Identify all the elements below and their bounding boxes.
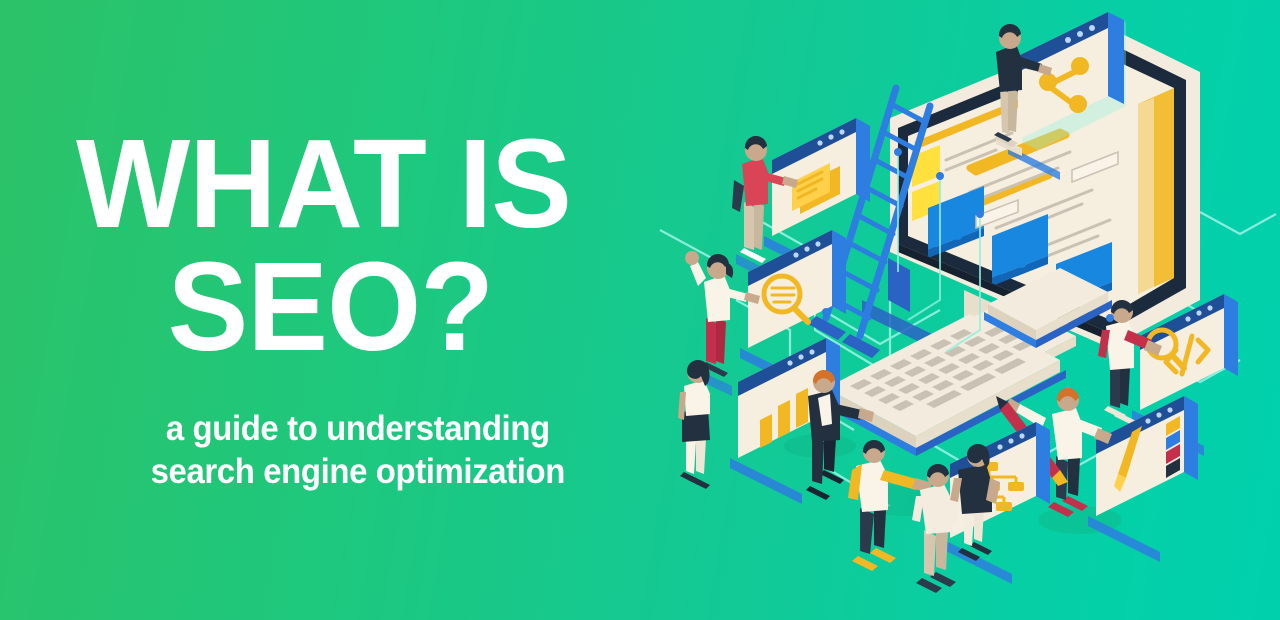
person-analytics-a	[678, 360, 710, 489]
poster-canvas: WHAT ISSEO? a guide to understanding sea…	[0, 0, 1280, 620]
headline-line-2: SEO?	[76, 245, 585, 368]
isometric-seo-illustration	[640, 0, 1280, 620]
page-subtitle: a guide to understanding search engine o…	[104, 408, 612, 493]
subtitle-line-1: a guide to understanding	[104, 408, 612, 451]
copy-block: WHAT ISSEO? a guide to understanding sea…	[0, 0, 660, 620]
page-title: WHAT ISSEO?	[76, 122, 614, 369]
headline-line-1: WHAT IS	[76, 113, 571, 254]
subtitle-line-2: search engine optimization	[104, 451, 612, 494]
card-design[interactable]	[1088, 396, 1198, 562]
